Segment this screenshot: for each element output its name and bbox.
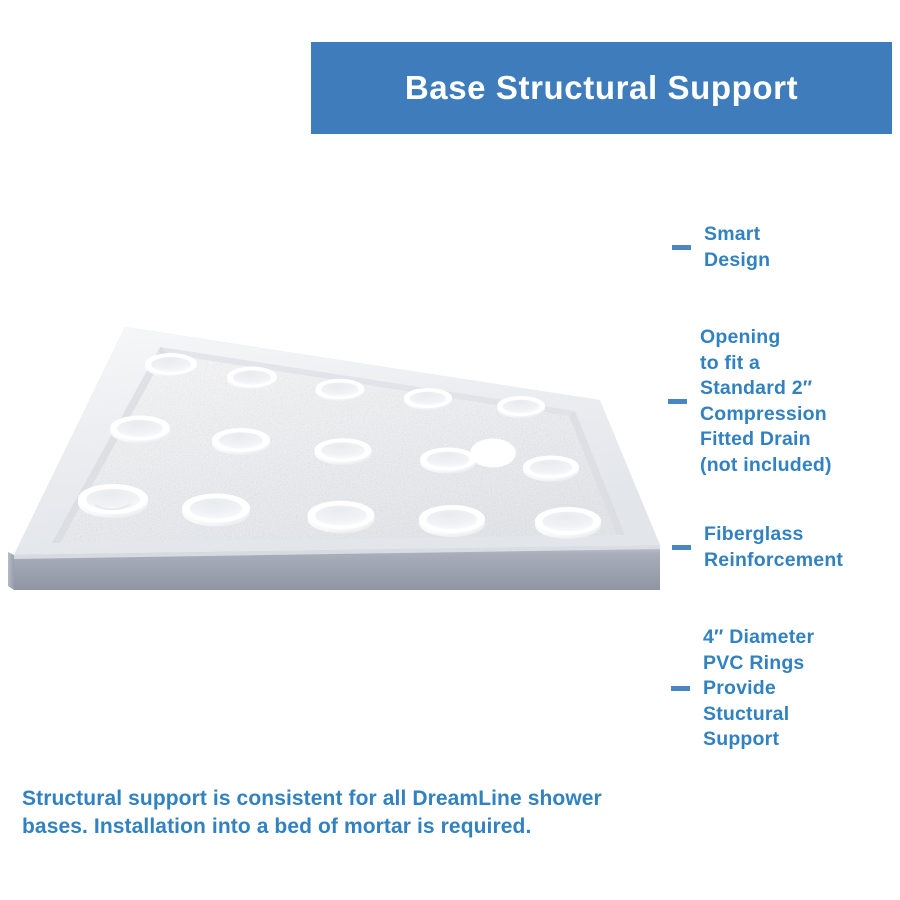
shower-base-illustration [0, 300, 690, 620]
callout-pvc-rings: 4″ Diameter PVC Rings Provide Stuctural … [671, 625, 814, 753]
callout-smart-design-label: Smart Design [704, 222, 770, 273]
header-banner: Base Structural Support [311, 42, 892, 134]
callout-fiberglass-label: Fiberglass Reinforcement [704, 522, 843, 573]
dash-marker-icon [668, 399, 687, 404]
shower-base-drawing [0, 300, 690, 620]
page-title: Base Structural Support [405, 69, 798, 107]
dash-marker-icon [672, 545, 691, 550]
dash-marker-icon [672, 245, 691, 250]
callout-smart-design: Smart Design [672, 222, 770, 273]
callout-drain-opening: Opening to fit a Standard 2″ Compression… [668, 325, 832, 478]
callout-fiberglass-reinforcement: Fiberglass Reinforcement [672, 522, 843, 573]
callout-drain-opening-label: Opening to fit a Standard 2″ Compression… [700, 325, 832, 478]
bottom-caption: Structural support is consistent for all… [22, 785, 622, 841]
dash-marker-icon [671, 686, 690, 691]
callout-pvc-rings-label: 4″ Diameter PVC Rings Provide Stuctural … [703, 625, 814, 753]
